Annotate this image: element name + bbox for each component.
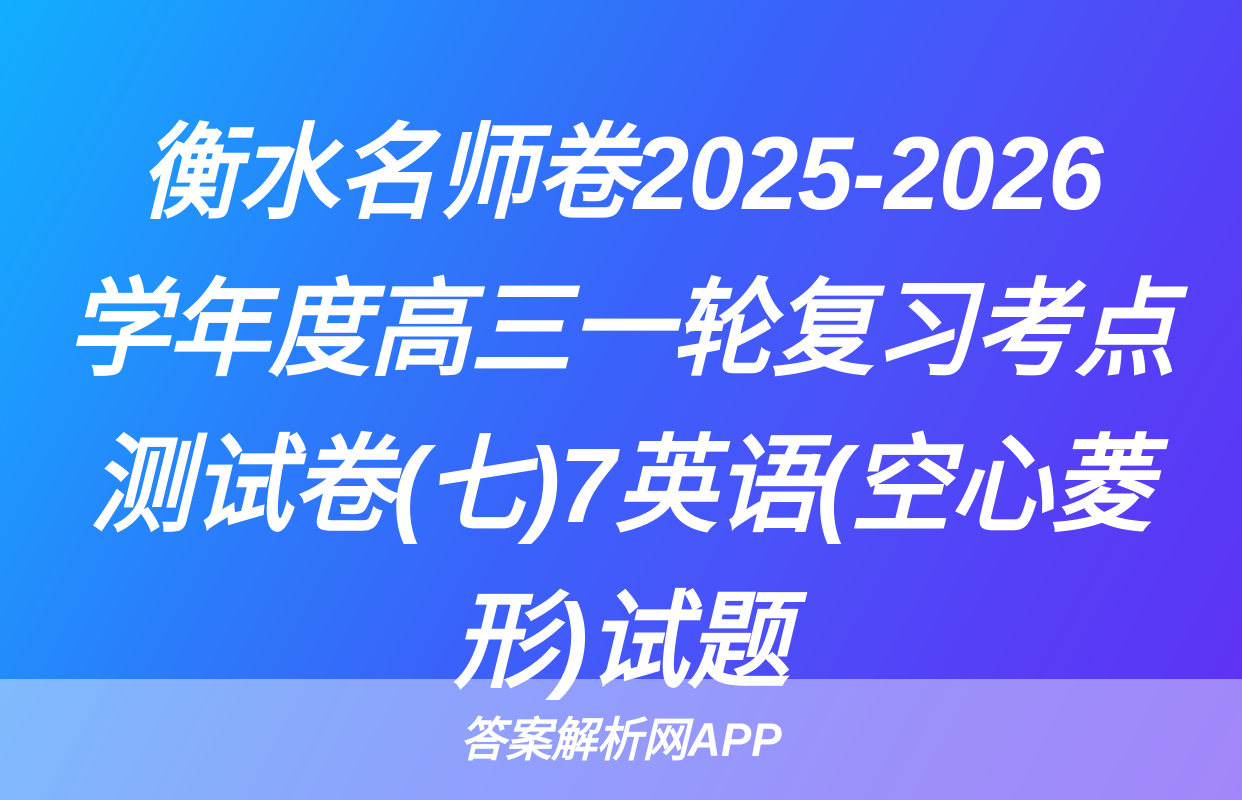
title-line-1: 衡水名师卷2025-2026: [42, 96, 1200, 252]
title-line-3: 测试卷(七)7英语(空心菱: [42, 408, 1200, 564]
title-line-2: 学年度高三一轮复习考点: [42, 252, 1200, 408]
page-title: 衡水名师卷2025-2026 学年度高三一轮复习考点 测试卷(七)7英语(空心菱…: [0, 96, 1242, 720]
watermark-text: 答案解析网APP: [460, 716, 782, 763]
cover-card: 衡水名师卷2025-2026 学年度高三一轮复习考点 测试卷(七)7英语(空心菱…: [0, 0, 1242, 800]
watermark-bar: 答案解析网APP: [0, 679, 1242, 800]
